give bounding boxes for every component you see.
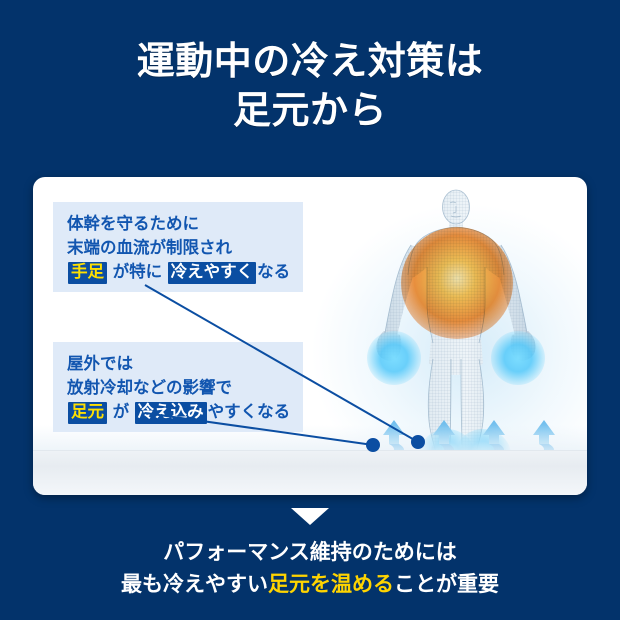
highlight-chilled: 冷え込み: [135, 402, 207, 424]
page-title: 運動中の冷え対策は 足元から: [0, 38, 620, 135]
highlight-hands-feet: 手足: [68, 262, 107, 284]
footer-line-2-pre: 最も冷えやすい: [121, 573, 268, 596]
callout-panel-outdoor: 屋外では 放射冷却などの影響で 足元 が 冷え込みやすくなる: [53, 342, 303, 432]
highlight-gets-cold: 冷えやすく: [168, 262, 257, 284]
panel-2-line-2: 放射冷却などの影響で: [67, 375, 290, 399]
floor-band: [33, 450, 587, 495]
highlight-feet: 足元: [68, 402, 107, 424]
panel-1-line-3: 手足 が特に 冷えやすくなる: [67, 259, 290, 283]
panel-2-line-1: 屋外では: [67, 351, 290, 375]
footer-line-2: 最も冷えやすい足元を温めることが重要: [0, 569, 620, 601]
headline-line-1: 運動中の冷え対策は: [137, 41, 484, 83]
headline-line-2: 足元から: [0, 87, 620, 136]
footer-line-1: パフォーマンス維持のためには: [0, 537, 620, 569]
panel-1-text-b: が特に: [108, 263, 167, 281]
panel-2-line-3: 足元 が 冷え込みやすくなる: [67, 399, 290, 423]
footer-line-2-post: ことが重要: [394, 573, 499, 596]
panel-1-line-1: 体幹を守るために: [67, 211, 290, 235]
panel-1-line-2: 末端の血流が制限され: [67, 235, 290, 259]
panel-2-text-b: が: [108, 403, 134, 421]
footer-message: パフォーマンス維持のためには 最も冷えやすい足元を温めることが重要: [0, 537, 620, 600]
illustration-card: 体幹を守るために 末端の血流が制限され 手足 が特に 冷えやすくなる 屋外では …: [33, 177, 587, 495]
panel-2-text-d: やすくなる: [208, 403, 291, 421]
infographic-poster: 運動中の冷え対策は 足元から: [0, 0, 620, 620]
callout-panel-core: 体幹を守るために 末端の血流が制限され 手足 が特に 冷えやすくなる: [53, 202, 303, 292]
down-arrow-icon: [291, 508, 329, 525]
panel-1-text-d: なる: [257, 263, 290, 281]
footer-accent: 足元を温める: [268, 573, 394, 596]
